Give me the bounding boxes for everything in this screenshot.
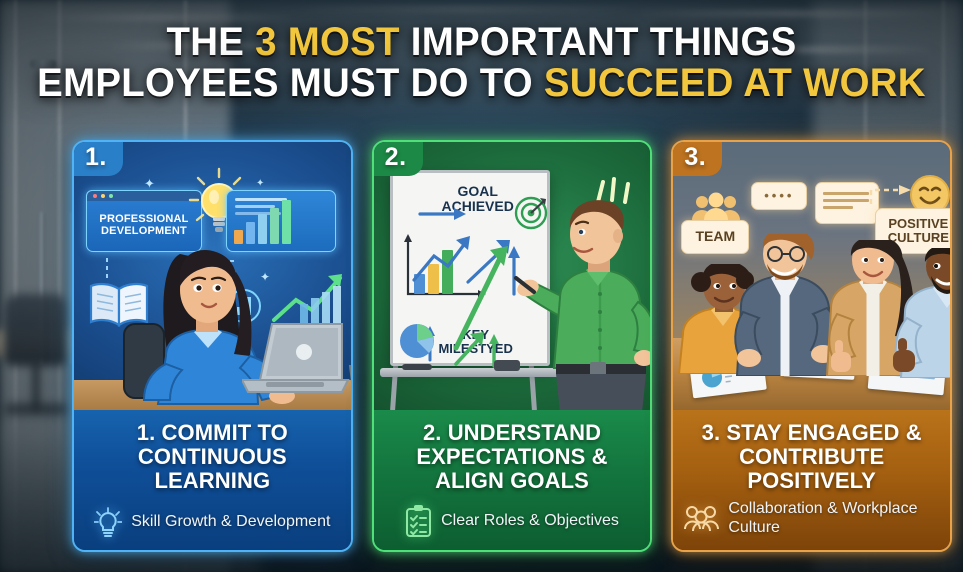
- man-blue-shirt-illustration: [891, 248, 950, 378]
- title-text: THE: [166, 20, 255, 64]
- cards-row: 1. PROFESSIONAL DEVELOPMENT: [72, 140, 952, 552]
- card-stay-engaged[interactable]: 3. TEAM ••••: [671, 140, 952, 552]
- bubble-line: [823, 199, 869, 202]
- page-title: THE 3 MOST IMPORTANT THINGS EMPLOYEES MU…: [19, 22, 943, 104]
- connector-line: [106, 258, 108, 278]
- sparkle-icon: ✦: [144, 176, 155, 192]
- bubble-line: [823, 206, 853, 209]
- card3-subtitle: Collaboration & Workplace Culture: [728, 499, 940, 537]
- card2-heading: 2. UNDERSTAND EXPECTATIONS & ALIGN GOALS: [384, 421, 641, 494]
- pie-chart-icon: [396, 320, 438, 362]
- bubble-dot: [93, 194, 97, 198]
- pen-cup-icon: [346, 338, 351, 394]
- bubble-dot: [101, 194, 105, 198]
- chat-dots-bubble: ••••: [751, 182, 807, 210]
- card2-number-badge: 2.: [374, 142, 423, 176]
- card1-illustration: 1. PROFESSIONAL DEVELOPMENT: [74, 142, 351, 410]
- title-text: IMPORTANT THINGS: [400, 20, 797, 64]
- card1-heading: 1. COMMIT TO CONTINUOUS LEARNING: [84, 421, 341, 494]
- marker-pen-icon: [402, 364, 432, 370]
- chart-line: [235, 198, 287, 201]
- bubble-label: TEAM: [696, 229, 736, 244]
- bubble-dot: [109, 194, 113, 198]
- man-illustration: [514, 198, 651, 410]
- card2-subtitle: Clear Roles & Objectives: [441, 511, 619, 530]
- card3-illustration: 3. TEAM ••••: [673, 142, 950, 410]
- card1-label-band: 1. COMMIT TO CONTINUOUS LEARNING Skill G…: [74, 410, 351, 550]
- card-commit-to-continuous-learning[interactable]: 1. PROFESSIONAL DEVELOPMENT: [72, 140, 353, 552]
- card2-subtitle-row: Clear Roles & Objectives: [384, 505, 641, 542]
- people-group-icon: [683, 504, 719, 532]
- title-line-2: EMPLOYEES MUST DO TO SUCCEED AT WORK: [19, 63, 943, 104]
- card2-illustration: 2. GOAL ACHIEVED KEY MILESTYED: [374, 142, 651, 410]
- card1-number-badge: 1.: [74, 142, 123, 176]
- bubble-line: [823, 192, 869, 195]
- dots-glyph: ••••: [764, 189, 794, 203]
- people-group-icon: [691, 192, 741, 222]
- card2-label-band: 2. UNDERSTAND EXPECTATIONS & ALIGN GOALS…: [374, 410, 651, 550]
- card1-subtitle: Skill Growth & Development: [131, 512, 330, 531]
- card-understand-expectations[interactable]: 2. GOAL ACHIEVED KEY MILESTYED: [372, 140, 653, 552]
- connector-arrow: [869, 184, 913, 208]
- title-highlight: SUCCEED AT WORK: [544, 61, 926, 105]
- card3-heading: 3. STAY ENGAGED & CONTRIBUTE POSITIVELY: [683, 421, 940, 494]
- card3-number-badge: 3.: [673, 142, 722, 176]
- sparkle-icon: ✦: [256, 178, 264, 189]
- laptop-icon: [242, 318, 350, 396]
- clipboard-checklist-icon: [405, 505, 432, 537]
- card3-subtitle-row: Collaboration & Workplace Culture: [683, 499, 940, 542]
- lightbulb-icon: [94, 507, 122, 537]
- title-highlight: 3 MOST: [255, 20, 400, 64]
- title-text: EMPLOYEES MUST DO TO: [37, 61, 544, 105]
- title-line-1: THE 3 MOST IMPORTANT THINGS: [19, 22, 943, 63]
- card3-label-band: 3. STAY ENGAGED & CONTRIBUTE POSITIVELY …: [673, 410, 950, 550]
- card1-subtitle-row: Skill Growth & Development: [84, 507, 341, 542]
- chart-line: [235, 205, 275, 208]
